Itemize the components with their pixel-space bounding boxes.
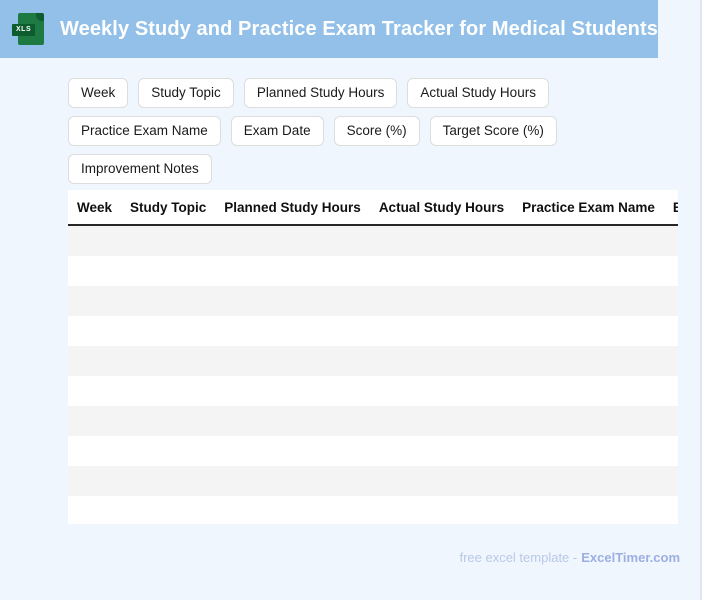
table-cell[interactable] <box>215 466 370 496</box>
table-cell[interactable] <box>68 346 121 376</box>
field-pill-list: WeekStudy TopicPlanned Study HoursActual… <box>68 78 568 184</box>
xls-file-icon: XLS <box>18 13 44 45</box>
table-cell[interactable] <box>121 256 215 286</box>
table-cell[interactable] <box>664 496 678 524</box>
table-cell[interactable] <box>215 225 370 256</box>
table-cell[interactable] <box>370 346 513 376</box>
table-cell[interactable] <box>121 346 215 376</box>
table-row[interactable] <box>68 286 678 316</box>
table-column-header[interactable]: Practice Exam Name <box>513 190 664 225</box>
table-cell[interactable] <box>664 256 678 286</box>
field-pill[interactable]: Actual Study Hours <box>407 78 549 108</box>
table-cell[interactable] <box>215 316 370 346</box>
field-pill[interactable]: Study Topic <box>138 78 234 108</box>
table-cell[interactable] <box>215 286 370 316</box>
table-cell[interactable] <box>513 256 664 286</box>
field-pill[interactable]: Target Score (%) <box>430 116 557 146</box>
table-cell[interactable] <box>68 496 121 524</box>
field-pill[interactable]: Week <box>68 78 128 108</box>
table-cell[interactable] <box>121 436 215 466</box>
table-cell[interactable] <box>513 225 664 256</box>
table-row[interactable] <box>68 466 678 496</box>
table-cell[interactable] <box>68 436 121 466</box>
table-cell[interactable] <box>68 376 121 406</box>
table-cell[interactable] <box>215 256 370 286</box>
table-cell[interactable] <box>121 225 215 256</box>
table-cell[interactable] <box>370 256 513 286</box>
table-cell[interactable] <box>370 316 513 346</box>
field-pill[interactable]: Planned Study Hours <box>244 78 398 108</box>
table-column-header[interactable]: Exam Date <box>664 190 678 225</box>
table-cell[interactable] <box>664 406 678 436</box>
table-cell[interactable] <box>121 286 215 316</box>
table-cell[interactable] <box>664 436 678 466</box>
field-pill[interactable]: Improvement Notes <box>68 154 212 184</box>
header-banner: XLS Weekly Study and Practice Exam Track… <box>0 0 658 58</box>
table-cell[interactable] <box>121 316 215 346</box>
table-cell[interactable] <box>68 316 121 346</box>
table-cell[interactable] <box>68 406 121 436</box>
table-cell[interactable] <box>121 406 215 436</box>
table-row[interactable] <box>68 376 678 406</box>
table-cell[interactable] <box>370 436 513 466</box>
table-cell[interactable] <box>215 496 370 524</box>
footer-attribution: free excel template -ExcelTimer.com <box>459 549 680 566</box>
table-cell[interactable] <box>513 496 664 524</box>
table-row[interactable] <box>68 346 678 376</box>
xls-icon-badge: XLS <box>12 24 35 36</box>
table-cell[interactable] <box>121 376 215 406</box>
table-cell[interactable] <box>664 286 678 316</box>
table-column-header[interactable]: Actual Study Hours <box>370 190 513 225</box>
data-table: WeekStudy TopicPlanned Study HoursActual… <box>68 190 678 524</box>
table-cell[interactable] <box>370 225 513 256</box>
table-cell[interactable] <box>121 496 215 524</box>
table-cell[interactable] <box>513 286 664 316</box>
table-row[interactable] <box>68 316 678 346</box>
table-body <box>68 225 678 524</box>
table-column-header[interactable]: Week <box>68 190 121 225</box>
table-cell[interactable] <box>370 286 513 316</box>
field-pill[interactable]: Exam Date <box>231 116 324 146</box>
table-head: WeekStudy TopicPlanned Study HoursActual… <box>68 190 678 225</box>
table-cell[interactable] <box>68 466 121 496</box>
table-row[interactable] <box>68 225 678 256</box>
table-cell[interactable] <box>215 406 370 436</box>
data-table-container[interactable]: WeekStudy TopicPlanned Study HoursActual… <box>68 190 678 524</box>
table-cell[interactable] <box>68 225 121 256</box>
table-cell[interactable] <box>664 316 678 346</box>
table-cell[interactable] <box>370 496 513 524</box>
table-header-row: WeekStudy TopicPlanned Study HoursActual… <box>68 190 678 225</box>
table-cell[interactable] <box>68 286 121 316</box>
table-cell[interactable] <box>664 466 678 496</box>
field-pill[interactable]: Practice Exam Name <box>68 116 221 146</box>
table-column-header[interactable]: Planned Study Hours <box>215 190 370 225</box>
table-row[interactable] <box>68 406 678 436</box>
table-cell[interactable] <box>513 466 664 496</box>
table-cell[interactable] <box>664 376 678 406</box>
footer-prefix-text: free excel template - <box>459 550 577 565</box>
footer-brand-link[interactable]: ExcelTimer.com <box>581 550 680 565</box>
table-cell[interactable] <box>68 256 121 286</box>
page-title: Weekly Study and Practice Exam Tracker f… <box>60 19 658 39</box>
table-cell[interactable] <box>370 406 513 436</box>
field-pill[interactable]: Score (%) <box>334 116 420 146</box>
table-cell[interactable] <box>513 316 664 346</box>
table-cell[interactable] <box>664 346 678 376</box>
table-cell[interactable] <box>513 376 664 406</box>
table-cell[interactable] <box>215 436 370 466</box>
table-cell[interactable] <box>513 346 664 376</box>
table-cell[interactable] <box>513 436 664 466</box>
table-cell[interactable] <box>370 376 513 406</box>
table-cell[interactable] <box>121 466 215 496</box>
table-cell[interactable] <box>664 225 678 256</box>
table-column-header[interactable]: Study Topic <box>121 190 215 225</box>
table-row[interactable] <box>68 436 678 466</box>
table-cell[interactable] <box>215 346 370 376</box>
table-cell[interactable] <box>513 406 664 436</box>
table-row[interactable] <box>68 496 678 524</box>
table-cell[interactable] <box>215 376 370 406</box>
table-row[interactable] <box>68 256 678 286</box>
table-cell[interactable] <box>370 466 513 496</box>
